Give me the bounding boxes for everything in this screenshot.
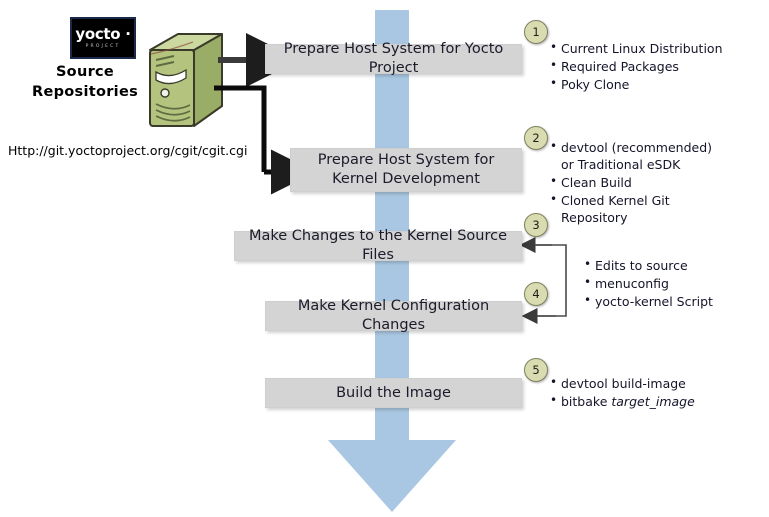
logo-subtext: PROJECT bbox=[86, 43, 121, 50]
bullets-step-1: Current Linux Distribution Required Pack… bbox=[548, 40, 763, 94]
process-box-step-5[interactable]: Build the Image bbox=[265, 378, 522, 408]
step-number-1: 1 bbox=[524, 20, 548, 44]
source-repository-url: Http://git.yoctoproject.org/cgit/cgit.cg… bbox=[8, 143, 247, 158]
list-item: devtool (recommended) or Traditional eSD… bbox=[561, 139, 728, 173]
list-item: Poky Clone bbox=[561, 76, 763, 93]
process-box-step-1[interactable]: Prepare Host System for Yocto Project bbox=[265, 44, 522, 74]
bullets-steps-3-4-shared: Edits to source menuconfig yocto-kernel … bbox=[582, 257, 762, 311]
process-box-step-2[interactable]: Prepare Host System for Kernel Developme… bbox=[290, 148, 522, 192]
logo-wordmark: yocto · bbox=[75, 27, 130, 42]
list-item: Current Linux Distribution bbox=[561, 40, 763, 57]
step-number-3: 3 bbox=[524, 213, 548, 237]
bullets-step-5: devtool build-image bitbake target_image bbox=[548, 375, 748, 411]
step-number-5: 5 bbox=[524, 358, 548, 382]
source-repositories-label: Source Repositories bbox=[20, 62, 150, 102]
step-number-4: 4 bbox=[524, 282, 548, 306]
bullets-step-2: devtool (recommended) or Traditional eSD… bbox=[548, 139, 728, 227]
diagram-canvas: yocto · PROJECT Source Repositories Http… bbox=[0, 0, 769, 517]
server-tower-icon bbox=[134, 30, 226, 140]
bitbake-target-italic: target_image bbox=[611, 394, 694, 409]
process-box-step-3[interactable]: Make Changes to the Kernel Source Files bbox=[234, 231, 522, 261]
source-label-line1: Source bbox=[20, 62, 150, 82]
list-item: Required Packages bbox=[561, 58, 763, 75]
step-number-2: 2 bbox=[524, 126, 548, 150]
source-label-line2: Repositories bbox=[20, 82, 150, 102]
list-item: Edits to source bbox=[595, 257, 762, 274]
list-item: Cloned Kernel Git Repository bbox=[561, 192, 728, 226]
list-item: yocto-kernel Script bbox=[595, 293, 762, 310]
process-box-step-4[interactable]: Make Kernel Configuration Changes bbox=[265, 301, 522, 331]
list-item: devtool build-image bbox=[561, 375, 748, 392]
yocto-project-logo: yocto · PROJECT bbox=[70, 17, 136, 59]
bitbake-command: bitbake bbox=[561, 394, 611, 409]
list-item: menuconfig bbox=[595, 275, 762, 292]
list-item: Clean Build bbox=[561, 174, 728, 191]
flow-arrow-head bbox=[328, 440, 456, 512]
list-item: bitbake target_image bbox=[561, 393, 748, 410]
